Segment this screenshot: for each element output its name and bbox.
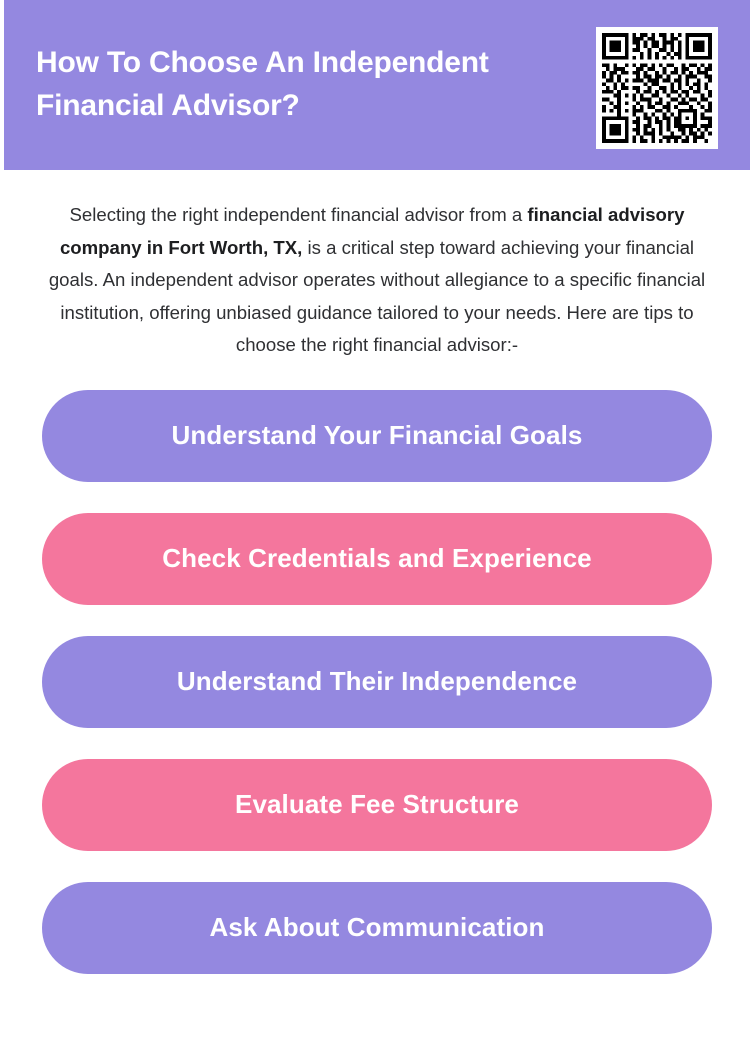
header-banner: How To Choose An Independent Financial A…	[4, 0, 750, 170]
tip-pill-1-label: Understand Your Financial Goals	[171, 420, 582, 451]
tip-pill-4[interactable]: Evaluate Fee Structure	[42, 759, 712, 851]
qr-code-icon[interactable]	[596, 27, 718, 149]
intro-text-part1: Selecting the right independent financia…	[70, 204, 528, 225]
tip-pill-3-label: Understand Their Independence	[177, 666, 577, 697]
tip-pill-5-label: Ask About Communication	[209, 912, 544, 943]
tips-list: Understand Your Financial Goals Check Cr…	[4, 390, 750, 974]
tip-pill-2-label: Check Credentials and Experience	[162, 543, 591, 574]
tip-pill-4-label: Evaluate Fee Structure	[235, 789, 519, 820]
infographic-page: How To Choose An Independent Financial A…	[0, 0, 750, 1061]
qr-code-graphic	[602, 33, 712, 143]
page-title: How To Choose An Independent Financial A…	[36, 42, 576, 127]
tip-pill-3[interactable]: Understand Their Independence	[42, 636, 712, 728]
tip-pill-2[interactable]: Check Credentials and Experience	[42, 513, 712, 605]
tip-pill-1[interactable]: Understand Your Financial Goals	[42, 390, 712, 482]
intro-paragraph: Selecting the right independent financia…	[41, 199, 713, 362]
tip-pill-5[interactable]: Ask About Communication	[42, 882, 712, 974]
